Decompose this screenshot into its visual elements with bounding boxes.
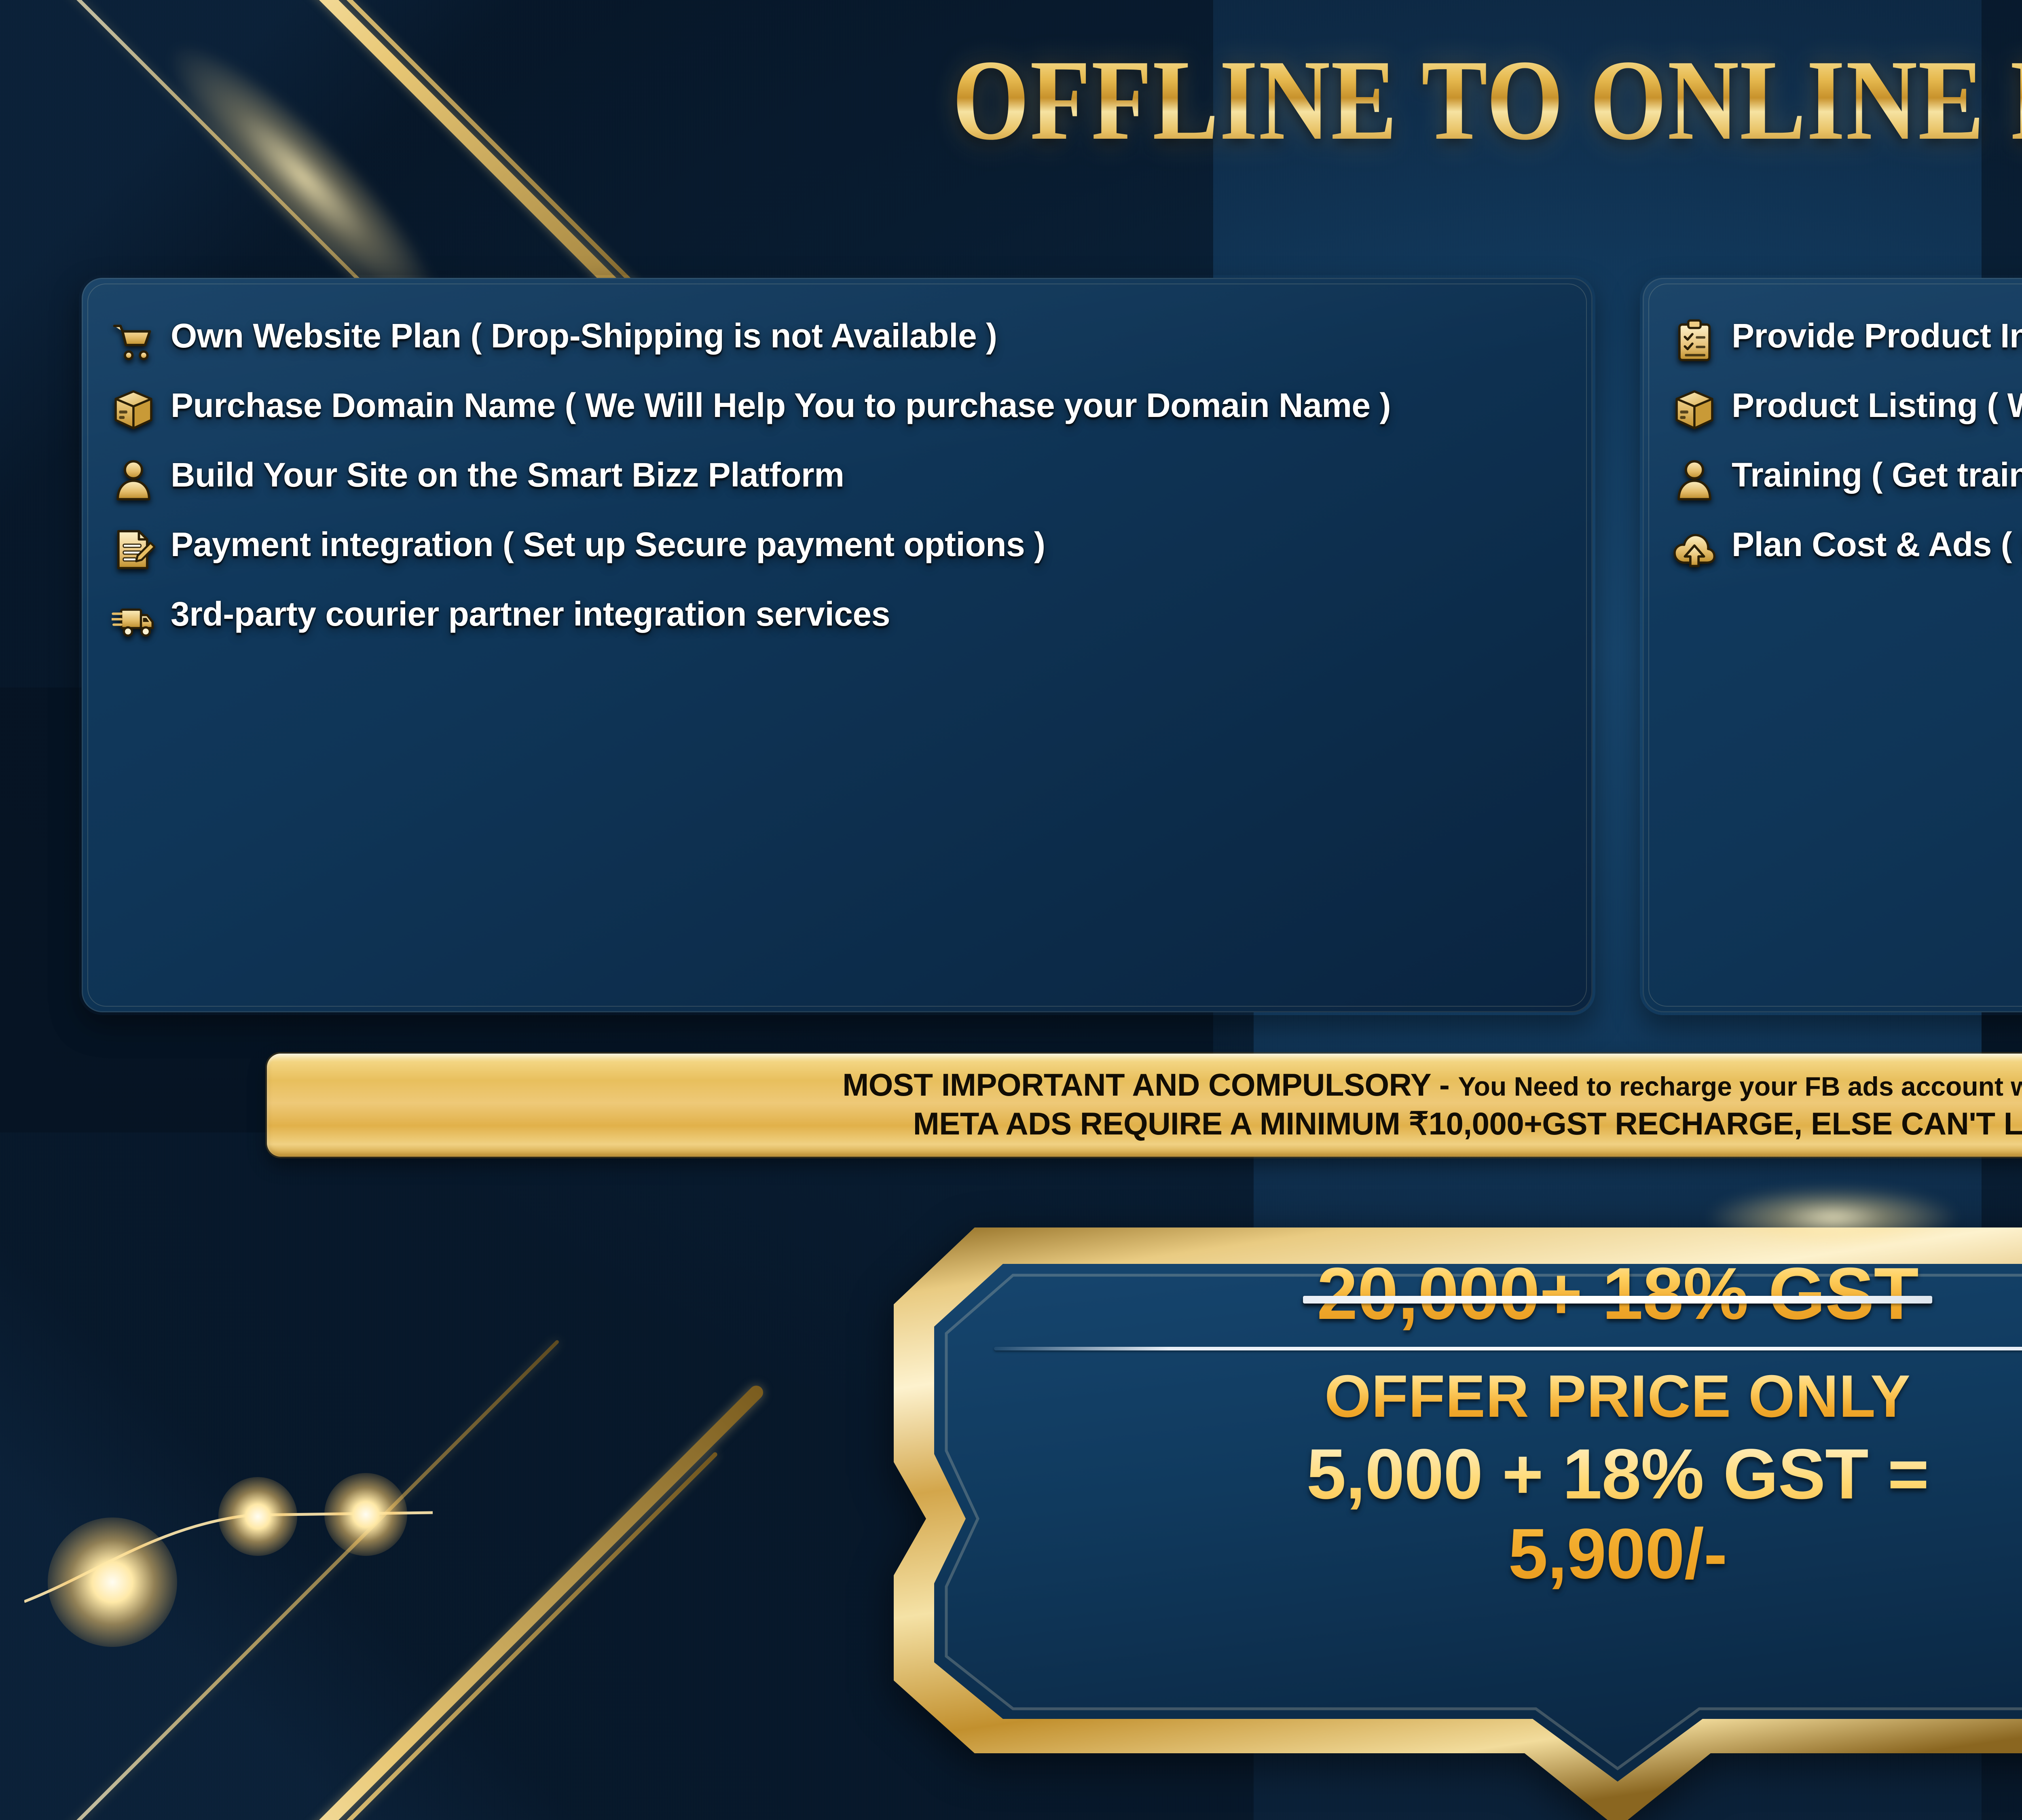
feature-item: Build Your Site on the Smart Bizz Platfo… — [112, 456, 1563, 502]
feature-label: Provide Product Info ( Client provides p… — [1732, 317, 2022, 356]
feature-label: Payment integration ( Set up Secure paym… — [171, 525, 1045, 564]
old-price-text: 20,000+ 18% GST — [1317, 1252, 1918, 1335]
feature-item: 3rd-party courier partner integration se… — [112, 595, 1563, 641]
gold-ribbon-bottom-left-thick — [0, 1383, 766, 1820]
clipboard-checklist-icon — [1673, 319, 1716, 363]
new-price: 5,000 + 18% GST = 5,900/- — [954, 1435, 2022, 1594]
shopping-cart-icon — [112, 319, 155, 363]
important-notice-banner: MOST IMPORTANT AND COMPULSORY - You Need… — [267, 1054, 2022, 1157]
new-price-line-2: 5,900/- — [954, 1514, 2022, 1594]
page-title: OFFLINE TO ONLINE PLAN — [226, 42, 2022, 158]
bokeh-orb-small — [324, 1473, 407, 1556]
cloud-upload-icon — [1673, 528, 1716, 571]
feature-item: Own Website Plan ( Drop-Shipping is not … — [112, 317, 1563, 363]
old-price-strikethrough: 20,000+ 18% GST — [1317, 1255, 1918, 1332]
user-person-icon — [112, 458, 155, 502]
bokeh-orb-large — [48, 1517, 177, 1647]
feature-label: Product Listing ( We will List 20 produc… — [1732, 386, 2022, 425]
gold-ribbon-bottom-left-thin-outer — [0, 1452, 718, 1820]
notice-line-1-dash: - — [1431, 1067, 1458, 1103]
document-pencil-icon — [112, 528, 155, 571]
user-person-icon — [1673, 458, 1716, 502]
feature-label: 3rd-party courier partner integration se… — [171, 595, 890, 634]
promotional-poster: OFFLINE TO ONLINE PLAN Own Website Plan … — [0, 0, 2022, 1820]
feature-label: Build Your Site on the Smart Bizz Platfo… — [171, 456, 844, 495]
gold-ribbon-bottom-left-thin-inner — [0, 1340, 560, 1820]
offer-price-label: OFFER PRICE ONLY — [954, 1364, 2022, 1429]
badge-divider — [994, 1347, 2022, 1350]
feature-item: Product Listing ( We will List 20 produc… — [1673, 386, 2022, 432]
notice-line-1: MOST IMPORTANT AND COMPULSORY - You Need… — [291, 1067, 2022, 1103]
price-badge: 20,000+ 18% GST OFFER PRICE ONLY 5,000 +… — [869, 1203, 2022, 1820]
light-trail-decoration — [24, 1440, 510, 1610]
notice-line-2: META ADS REQUIRE A MINIMUM ₹10,000+GST R… — [291, 1107, 2022, 1141]
package-box-icon — [112, 389, 155, 432]
new-price-line-1: 5,000 + 18% GST = — [1307, 1435, 1929, 1514]
badge-content: 20,000+ 18% GST OFFER PRICE ONLY 5,000 +… — [954, 1255, 2022, 1594]
feature-item: Training ( Get training for adding more … — [1673, 456, 2022, 502]
feature-item: Purchase Domain Name ( We Will Help You … — [112, 386, 1563, 432]
feature-label: Purchase Domain Name ( We Will Help You … — [171, 386, 1391, 425]
feature-item: Payment integration ( Set up Secure paym… — [112, 525, 1563, 571]
feature-label: Training ( Get training for adding more … — [1732, 456, 2022, 495]
right-feature-card: Provide Product Info ( Client provides p… — [1640, 275, 2022, 1015]
notice-line-1-rest: You Need to recharge your FB ads account… — [1458, 1071, 2022, 1101]
strikethrough-line — [1303, 1296, 1932, 1304]
left-feature-card: Own Website Plan ( Drop-Shipping is not … — [79, 275, 1595, 1015]
notice-line-1-strong: MOST IMPORTANT AND COMPULSORY — [842, 1067, 1430, 1103]
bokeh-orb-medium — [218, 1477, 297, 1556]
feature-label: Own Website Plan ( Drop-Shipping is not … — [171, 317, 997, 356]
feature-cards-row: Own Website Plan ( Drop-Shipping is not … — [0, 275, 2022, 1015]
delivery-truck-icon — [112, 597, 155, 641]
feature-item: Plan Cost & Ads ( 5,000+ tax ( Plan Fee … — [1673, 525, 2022, 571]
feature-item: Provide Product Info ( Client provides p… — [1673, 317, 2022, 363]
feature-label: Plan Cost & Ads ( 5,000+ tax ( Plan Fee … — [1732, 525, 2022, 564]
package-box-icon — [1673, 389, 1716, 432]
